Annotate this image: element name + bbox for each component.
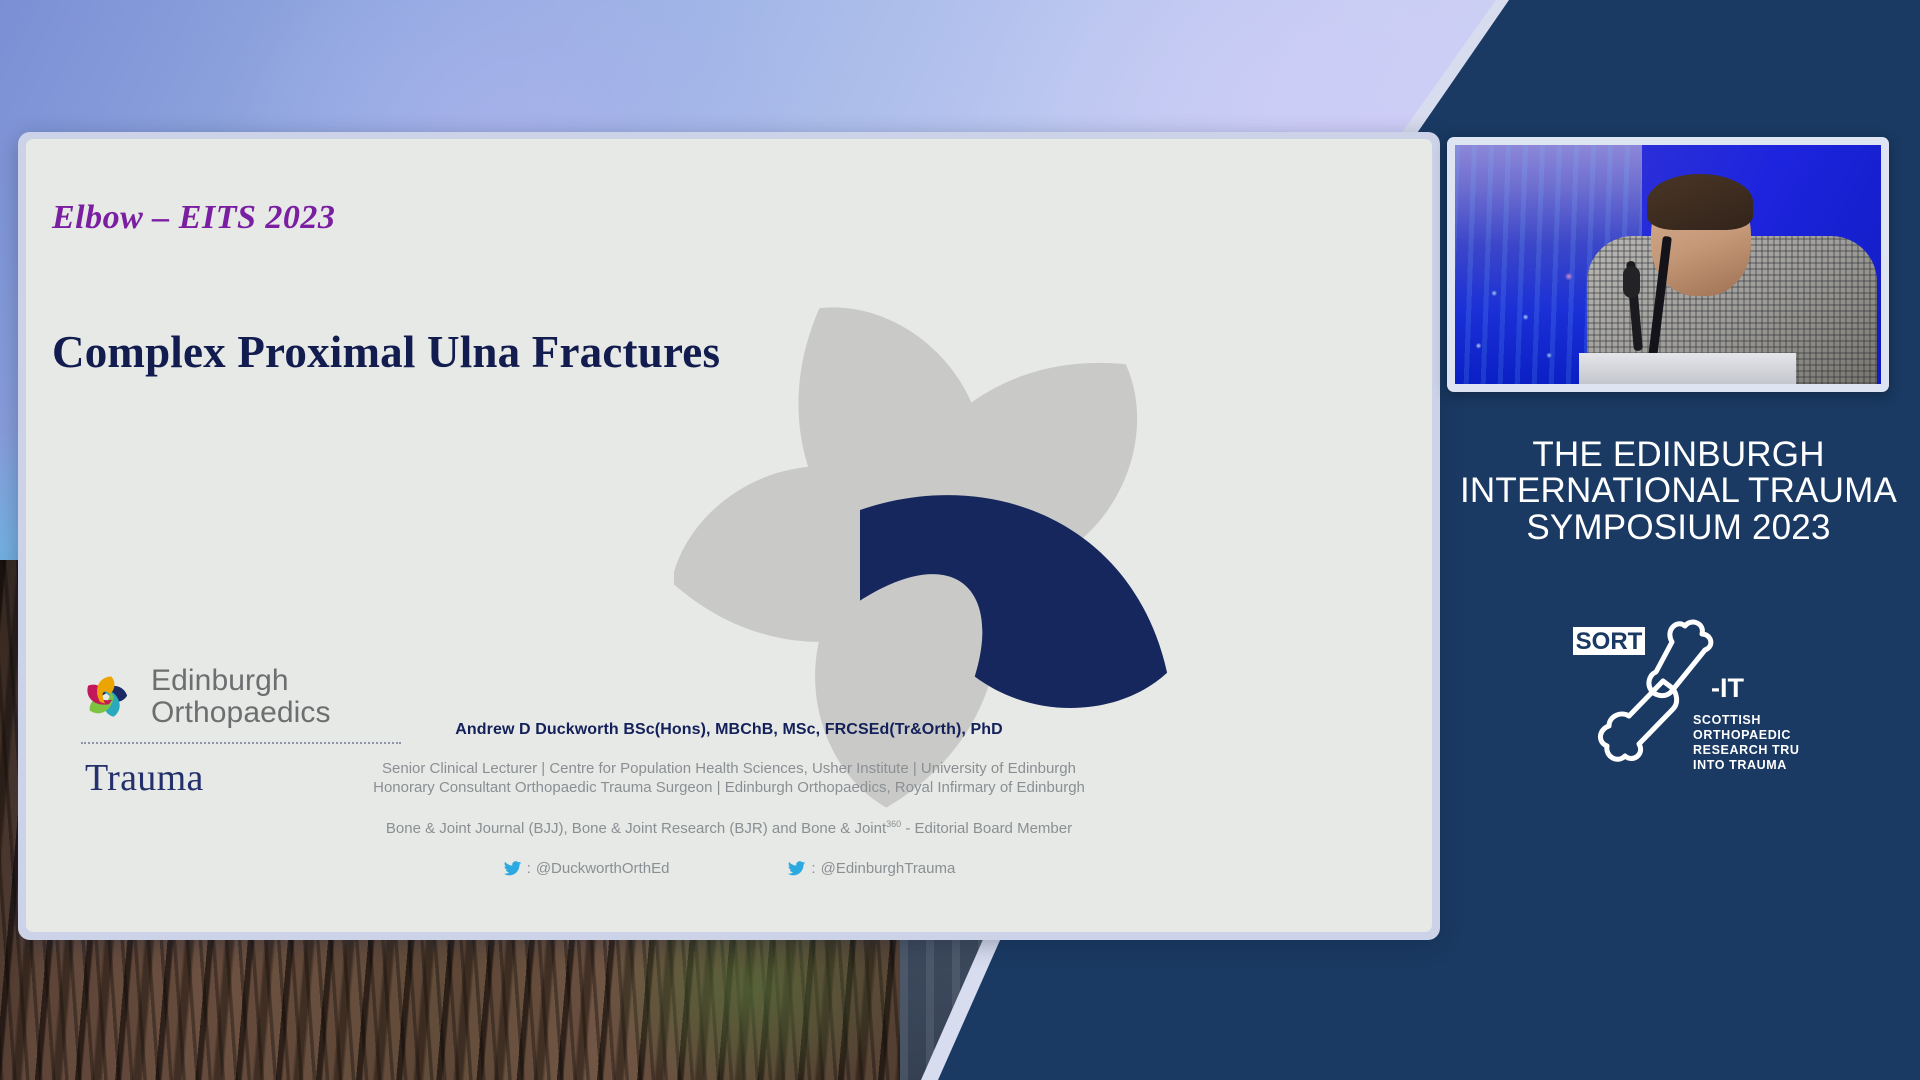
slide-card[interactable]: Elbow – EITS 2023 Complex Proximal Ulna …: [26, 139, 1432, 932]
page-title: Complex Proximal Ulna Fractures: [52, 326, 720, 378]
video-microphone-head: [1623, 266, 1640, 298]
author-affiliation-line-1: Senior Clinical Lecturer | Centre for Po…: [26, 759, 1432, 778]
sort-it-sub-line-4: INTO TRAUMA: [1693, 758, 1787, 772]
sort-it-sub-line-2: ORTHOPAEDIC: [1693, 728, 1791, 742]
video-podium: [1579, 353, 1796, 384]
author-block: Andrew D Duckworth BSc(Hons), MBChB, MSc…: [26, 721, 1432, 878]
sort-it-sub-line-3: RESEARCH TRUST: [1693, 743, 1799, 757]
video-inner: [1455, 145, 1881, 384]
twitter-icon: [787, 859, 806, 878]
social-item-author[interactable]: : @DuckworthOrthEd: [503, 859, 670, 878]
twitter-icon: [503, 859, 522, 878]
social-item-department[interactable]: : @EdinburghTrauma: [787, 859, 955, 878]
social-handle-department[interactable]: @EdinburghTrauma: [821, 860, 956, 877]
symposium-title-line-3: SYMPOSIUM 2023: [1437, 510, 1920, 546]
sort-it-sub-line-1: SCOTTISH: [1693, 713, 1761, 727]
author-name: Andrew D Duckworth BSc(Hons), MBChB, MSc…: [26, 721, 1432, 739]
edinburgh-orthopaedics-wordmark: Edinburgh Orthopaedics: [151, 665, 331, 729]
author-journals: Bone & Joint Journal (BJJ), Bone & Joint…: [26, 819, 1432, 837]
social-separator-department: :: [811, 860, 815, 877]
symposium-title: THE EDINBURGH INTERNATIONAL TRAUMA SYMPO…: [1437, 437, 1920, 546]
social-separator-author: :: [527, 860, 531, 877]
sort-it-suffix-text: -IT: [1711, 673, 1744, 703]
video-speaker-hair: [1647, 174, 1753, 230]
slide-kicker: Elbow – EITS 2023: [52, 199, 335, 237]
speaker-video-thumbnail[interactable]: [1447, 137, 1889, 392]
social-handle-author[interactable]: @DuckworthOrthEd: [536, 860, 670, 877]
right-panel-content: THE EDINBURGH INTERNATIONAL TRAUMA SYMPO…: [1437, 0, 1920, 1080]
social-handles: : @DuckworthOrthEd : @EdinburghTrauma: [26, 859, 1432, 878]
presentation-stage: Elbow – EITS 2023 Complex Proximal Ulna …: [0, 0, 1920, 1080]
journals-superscript: 360: [886, 819, 901, 829]
symposium-title-line-2: INTERNATIONAL TRAUMA: [1437, 473, 1920, 509]
sort-it-logo: SORT -IT SCOTTISH ORTHOPAEDIC RESEARCH T…: [1437, 596, 1920, 776]
journals-prefix: Bone & Joint Journal (BJJ), Bone & Joint…: [386, 820, 886, 837]
journals-suffix: - Editorial Board Member: [901, 820, 1072, 837]
logo-line-1: Edinburgh: [151, 665, 331, 697]
author-affiliation-line-2: Honorary Consultant Orthopaedic Trauma S…: [26, 778, 1432, 797]
symposium-title-line-1: THE EDINBURGH: [1437, 437, 1920, 473]
sort-badge-text: SORT: [1575, 628, 1642, 655]
